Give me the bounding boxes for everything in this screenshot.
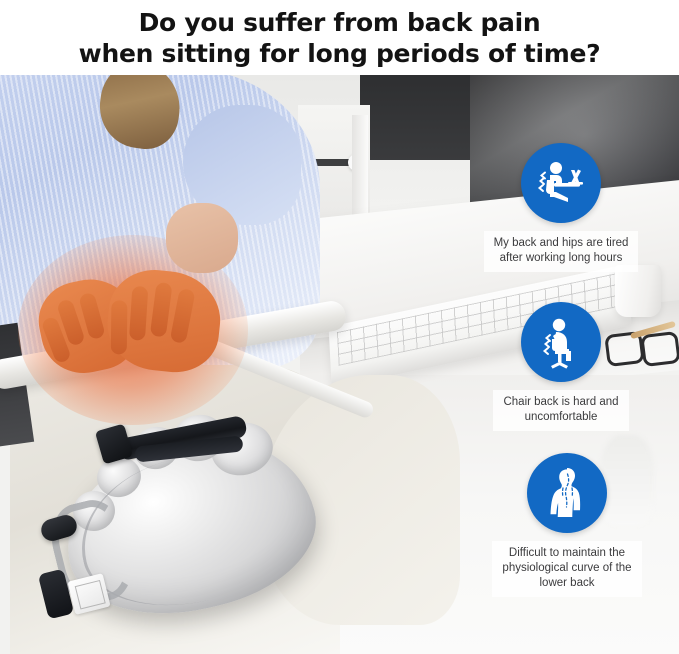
finger: [111, 300, 128, 354]
finger: [150, 282, 173, 338]
feature-tired-back-and-hips: My back and hips are tired after working…: [483, 143, 639, 272]
caption-line: My back and hips are tired: [494, 236, 629, 251]
feature-spine-curve: Difficult to maintain the physiological …: [491, 453, 643, 597]
product-marketing-image: Do you suffer from back pain when sittin…: [0, 0, 679, 654]
badge-circle: [527, 453, 607, 533]
caption-line: uncomfortable: [503, 410, 618, 425]
person-forearm: [166, 203, 238, 273]
caption-line: after working long hours: [494, 251, 629, 266]
finger: [129, 286, 148, 341]
person-on-chair-back-pain-icon: [532, 313, 590, 371]
torso-spine-curve-icon: [538, 464, 596, 522]
headline-line-1: Do you suffer from back pain: [139, 7, 541, 38]
headline-banner: Do you suffer from back pain when sittin…: [0, 0, 679, 75]
finger: [170, 288, 196, 344]
feature-caption: Difficult to maintain the physiological …: [492, 541, 641, 597]
pillow-label-tag: [67, 573, 110, 615]
feature-hard-chair-back: Chair back is hard and uncomfortable: [483, 302, 639, 431]
secondary-monitor: [360, 75, 470, 160]
headline-line-2: when sitting for long periods of time?: [79, 38, 601, 69]
lumbar-pillow-product: [35, 405, 335, 650]
glasses-right-lens: [640, 331, 679, 367]
badge-circle: [521, 302, 601, 382]
caption-line: physiological curve of the: [502, 561, 631, 576]
caption-line: lower back: [502, 576, 631, 591]
person-at-desk-with-pain-icon: [532, 154, 590, 212]
feature-caption: Chair back is hard and uncomfortable: [493, 390, 628, 431]
badge-circle: [521, 143, 601, 223]
feature-caption: My back and hips are tired after working…: [484, 231, 639, 272]
caption-line: Difficult to maintain the: [502, 546, 631, 561]
caption-line: Chair back is hard and: [503, 395, 618, 410]
